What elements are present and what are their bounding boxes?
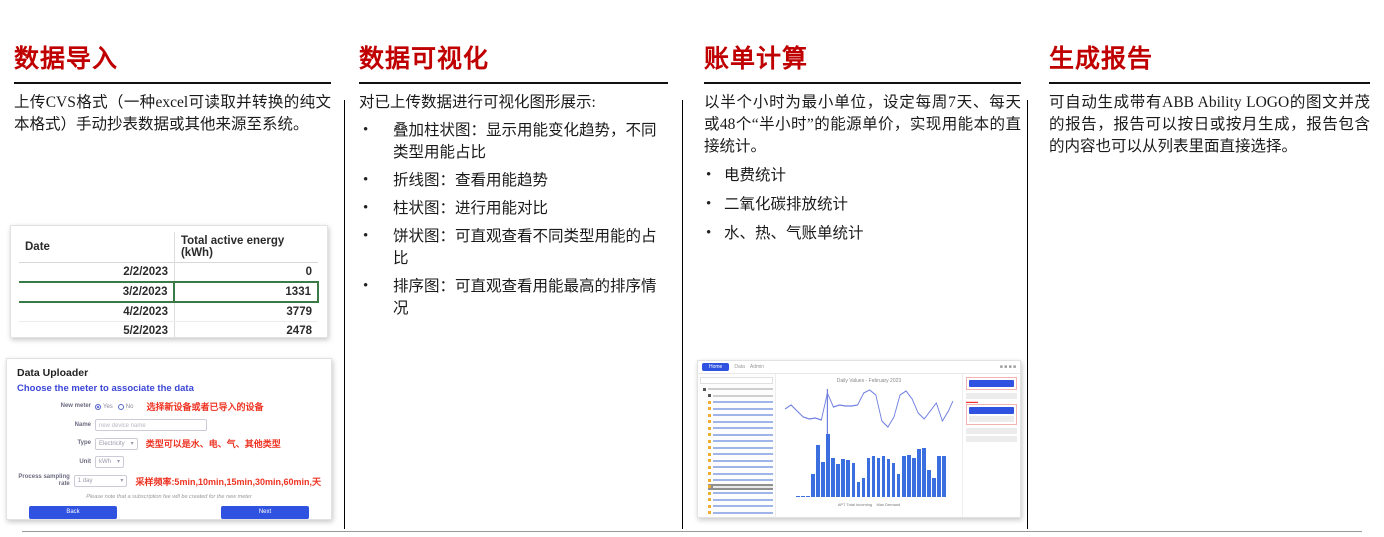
label-name: Name — [17, 422, 95, 429]
list-item: 饼状图：可直观查看不同类型用能的占比 — [359, 226, 668, 270]
annotation-sampling-rate: 采样频率:5min,10min,15min,30min,60min,天 — [135, 475, 321, 488]
list-item: 水、热、气账单统计 — [704, 223, 1021, 245]
column-data-visualization: 数据可视化 对已上传数据进行可视化图形展示: 叠加柱状图：显示用能变化趋势，不同… — [345, 0, 682, 537]
chevron-down-icon: ▾ — [117, 456, 120, 468]
table-header-row: Date Total active energy (kWh) — [19, 232, 318, 263]
label-sampling-rate: Process sampling rate — [17, 474, 74, 488]
radio-yes[interactable] — [95, 404, 101, 410]
list-item: 叠加柱状图：显示用能变化趋势，不同类型用能占比 — [359, 120, 668, 164]
cell-value: 3779 — [174, 302, 318, 322]
description-data-import: 上传CVS格式（一种excel可读取并转换的纯文本格式）手动抄表数据或其他来源至… — [14, 92, 331, 136]
subscription-note: Please note that a subscription fee will… — [17, 494, 321, 500]
field-name: Name new device name — [17, 419, 321, 431]
data-uploader-screenshot: Data Uploader Choose the meter to associ… — [6, 358, 332, 520]
field-unit: Unit kWh ▾ — [17, 456, 321, 468]
unit-select[interactable]: kWh ▾ — [95, 456, 124, 468]
page-title-data-import: 数据导入 — [14, 45, 331, 75]
uploader-buttons: Back Next — [17, 506, 321, 519]
table-row: 5/2/2023 2478 — [19, 322, 318, 339]
uploader-subtitle: Choose the meter to associate the data — [17, 383, 321, 394]
slide-canvas: 数据导入 上传CVS格式（一种excel可读取并转换的纯文本格式）手动抄表数据或… — [0, 0, 1384, 537]
column-bill-calculation: 账单计算 以半个小时为最小单位，设定每周7天、每天或48个“半小时”的能源单价，… — [690, 0, 1035, 537]
sampling-rate-select[interactable]: 1 day ▾ — [74, 475, 128, 487]
title-rule — [14, 82, 331, 84]
column-separator-2 — [682, 100, 683, 529]
cell-value: 0 — [174, 263, 318, 283]
field-sampling-rate: Process sampling rate 1 day ▾ 采样频率:5min,… — [17, 474, 321, 488]
field-new-meter: New meter Yes No 选择新设备或者已导入的设备 — [17, 400, 321, 413]
bill-bullet-list: 电费统计 二氧化碳排放统计 水、热、气账单统计 — [704, 165, 1021, 245]
column-data-import: 数据导入 上传CVS格式（一种excel可读取并转换的纯文本格式）手动抄表数据或… — [0, 0, 345, 537]
cell-value: 1331 — [174, 282, 318, 302]
label-unit: Unit — [17, 459, 95, 466]
visualization-bullet-list: 叠加柱状图：显示用能变化趋势，不同类型用能占比 折线图：查看用能趋势 柱状图：进… — [359, 120, 668, 320]
table-row-selected[interactable]: 3/2/2023 1331 — [19, 282, 318, 302]
chevron-down-icon: ▾ — [120, 475, 123, 487]
cell-value: 2478 — [174, 322, 318, 339]
list-item: 电费统计 — [704, 165, 1021, 187]
table-row: 2/2/2023 0 — [19, 263, 318, 283]
list-item: 折线图：查看用能趋势 — [359, 170, 668, 192]
description-data-visualization: 对已上传数据进行可视化图形展示: — [359, 92, 668, 114]
title-rule — [704, 82, 1021, 84]
label-new-meter: New meter — [17, 403, 95, 410]
field-type: Type Electricity ▾ 类型可以是水、电、气、其他类型 — [17, 437, 321, 450]
cell-date: 2/2/2023 — [19, 263, 174, 283]
list-item: 排序图：可直观查看用能最高的排序情况 — [359, 276, 668, 320]
list-item: 二氧化碳排放统计 — [704, 194, 1021, 216]
cell-date: 4/2/2023 — [19, 302, 174, 322]
chevron-down-icon: ▾ — [131, 438, 134, 450]
column-header-date: Date — [19, 232, 174, 263]
cell-date: 3/2/2023 — [19, 282, 174, 302]
column-header-energy: Total active energy (kWh) — [174, 232, 318, 263]
radio-no-label: No — [126, 404, 134, 410]
sampling-rate-value: 1 day — [78, 475, 93, 487]
title-rule — [1049, 82, 1370, 84]
next-button[interactable]: Next — [221, 506, 309, 519]
label-type: Type — [17, 440, 95, 447]
unit-value: kWh — [99, 456, 111, 468]
uploader-title: Data Uploader — [17, 367, 321, 379]
description-generate-report: 可自动生成带有ABB Ability LOGO的图文并茂的报告，报告可以按日或按… — [1049, 92, 1370, 158]
excel-table-screenshot: Date Total active energy (kWh) 2/2/2023 … — [10, 225, 328, 338]
name-input[interactable]: new device name — [95, 419, 207, 431]
page-title-bill-calculation: 账单计算 — [704, 45, 1021, 75]
type-select[interactable]: Electricity ▾ — [95, 438, 138, 450]
annotation-new-meter: 选择新设备或者已导入的设备 — [146, 400, 263, 413]
back-button[interactable]: Back — [29, 506, 117, 519]
title-rule — [359, 82, 668, 84]
type-value: Electricity — [99, 438, 125, 450]
column-generate-report: 生成报告 可自动生成带有ABB Ability LOGO的图文并茂的报告，报告可… — [1035, 0, 1384, 537]
radio-yes-label: Yes — [103, 404, 113, 410]
cell-date: 5/2/2023 — [19, 322, 174, 339]
table-row: 4/2/2023 3779 — [19, 302, 318, 322]
description-bill-calculation: 以半个小时为最小单位，设定每周7天、每天或48个“半小时”的能源单价，实现用能本… — [704, 92, 1021, 158]
page-title-generate-report: 生成报告 — [1049, 45, 1370, 75]
annotation-type: 类型可以是水、电、气、其他类型 — [146, 437, 281, 450]
energy-table: Date Total active energy (kWh) 2/2/2023 … — [19, 232, 319, 338]
radio-no[interactable] — [118, 404, 124, 410]
page-title-data-visualization: 数据可视化 — [359, 45, 668, 75]
list-item: 柱状图：进行用能对比 — [359, 198, 668, 220]
